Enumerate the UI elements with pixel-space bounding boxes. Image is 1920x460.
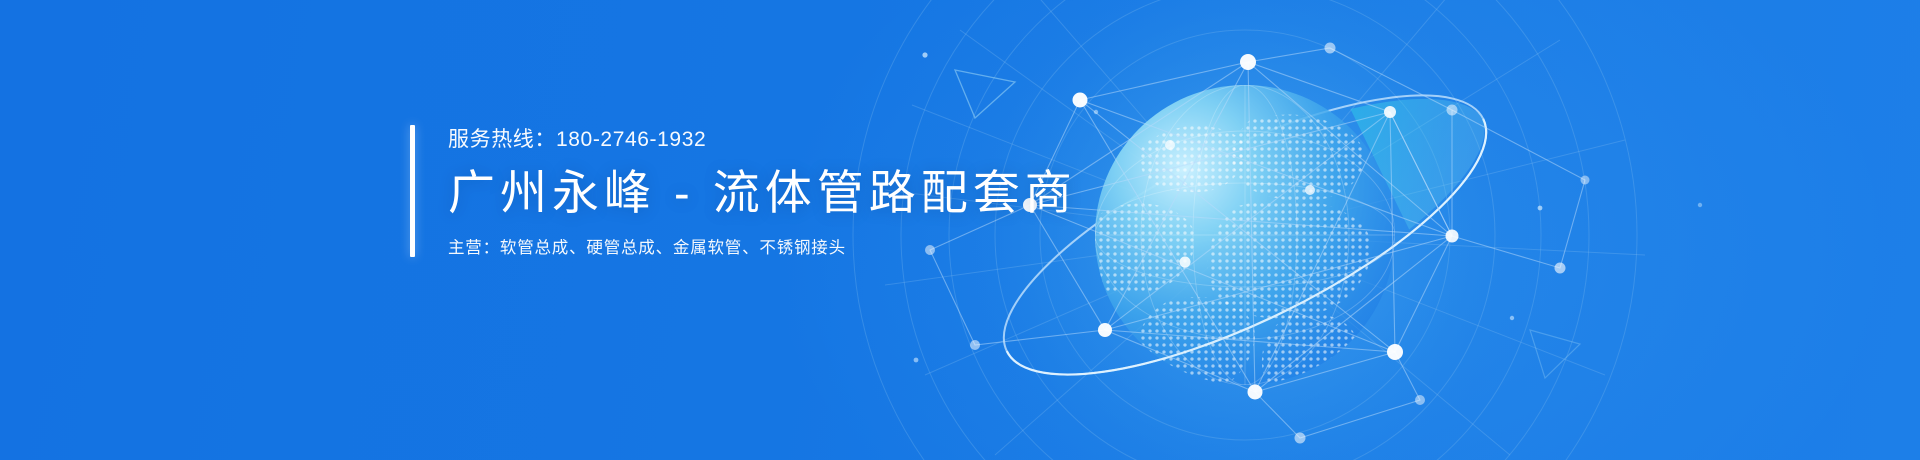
banner-text-block: 服务热线：180-2746-1932 广州永峰 - 流体管路配套商 主营：软管总… <box>410 125 1077 257</box>
promo-banner: 服务热线：180-2746-1932 广州永峰 - 流体管路配套商 主营：软管总… <box>0 0 1920 460</box>
service-hotline: 服务热线：180-2746-1932 <box>448 129 1077 150</box>
banner-text-column: 服务热线：180-2746-1932 广州永峰 - 流体管路配套商 主营：软管总… <box>448 125 1077 257</box>
accent-bar <box>410 125 415 257</box>
banner-subtitle: 主营：软管总成、硬管总成、金属软管、不锈钢接头 <box>448 240 1077 257</box>
banner-title: 广州永峰 - 流体管路配套商 <box>448 169 1077 216</box>
